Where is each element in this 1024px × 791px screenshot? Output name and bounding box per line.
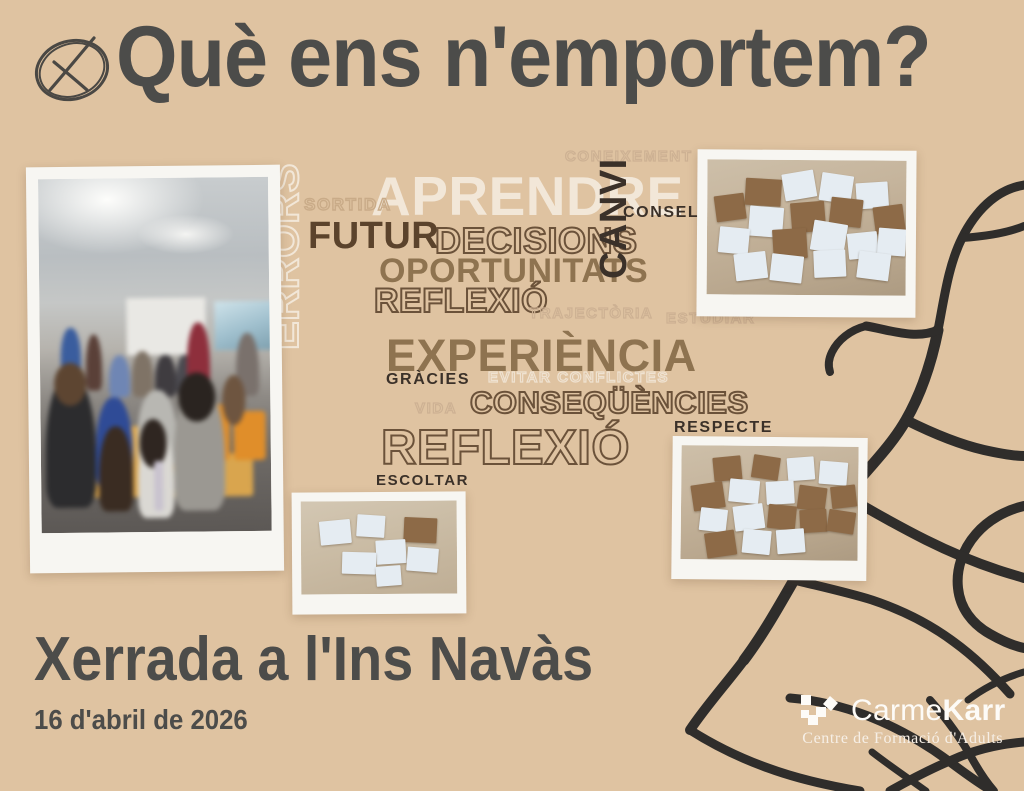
wordcloud-word: GRÀCIES: [386, 371, 470, 389]
event-date: 16 d'abril de 2026: [34, 706, 248, 734]
wordcloud-word: REFLEXIÓ: [381, 420, 630, 476]
carmekarr-logo: CarmeKarr Centre de Formació d'Adults: [800, 694, 1005, 748]
wordcloud-word: EVITAR CONFLICTES: [488, 369, 669, 386]
wordcloud-word: CONSEQÜÈNCIES: [470, 385, 749, 421]
sticky-notes-board-photo-1: [707, 159, 907, 295]
wordcloud-word: REFLEXIÓ: [374, 282, 548, 321]
sticky-notes-board-photo-2: [680, 445, 858, 561]
classroom-audience-photo: [38, 177, 272, 533]
classroom-polaroid: [26, 165, 284, 574]
poster-header: Què ens n'emportem?: [0, 0, 1024, 128]
wordcloud-word: CANVI: [593, 158, 636, 279]
logo-name-bold: Karr: [943, 694, 1006, 727]
page-title: Què ens n'emportem?: [116, 14, 931, 100]
logo-row: CarmeKarr: [800, 694, 1005, 727]
sticky-notes-polaroid-top-right: [696, 149, 916, 318]
sticky-notes-board-photo-3: [301, 500, 458, 594]
logo-name-light: Carme: [851, 694, 943, 727]
wordcloud-word: TRAJECTÒRIA: [529, 305, 653, 322]
sticky-notes-polaroid-bottom-right: [671, 436, 867, 581]
event-subtitle: Xerrada a l'Ins Navàs: [34, 629, 593, 691]
poster-canvas: Què ens n'emportem?: [0, 0, 1024, 791]
logo-wordmark: CarmeKarr: [851, 696, 1005, 726]
wordcloud-word: ESCOLTAR: [376, 472, 469, 489]
logo-tagline: Centre de Formació d'Adults: [800, 730, 1005, 748]
wordcloud-word: RESPECTE: [674, 419, 773, 437]
sticky-notes-polaroid-bottom-middle: [292, 491, 467, 614]
wordcloud-word: SORTIDA: [304, 195, 392, 215]
carmekarr-logo-mark-icon: [800, 694, 844, 727]
circle-x-scribble-icon: [26, 22, 118, 114]
wordcloud-word: VIDA: [415, 400, 457, 417]
